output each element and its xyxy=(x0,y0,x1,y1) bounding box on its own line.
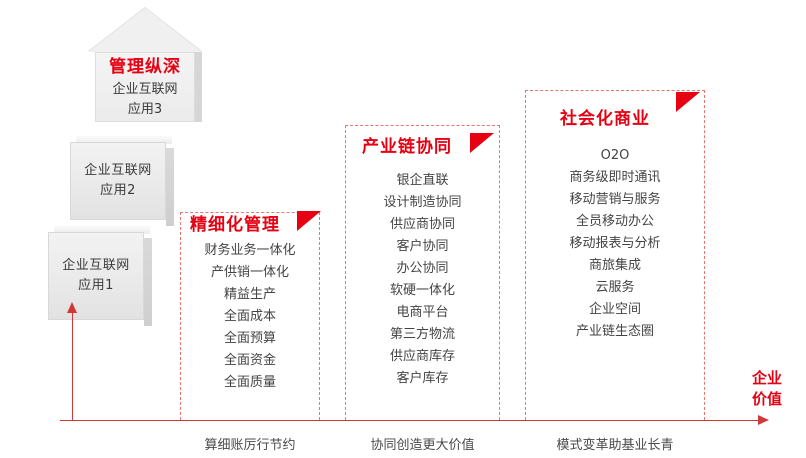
list-item: 软硬一体化 xyxy=(345,280,500,302)
list-item: 客户协同 xyxy=(345,236,500,258)
roof-triangle-icon xyxy=(88,8,202,52)
step-block-2: 企业互联网 应用2 xyxy=(70,142,166,220)
list-item: 移动营销与服务 xyxy=(525,189,705,211)
step-block-3: 管理纵深 企业互联网 应用3 xyxy=(88,8,202,122)
list-item: 电商平台 xyxy=(345,302,500,324)
list-item: 全面资金 xyxy=(180,350,320,372)
caption-group-2: 协同创造更大价值 xyxy=(345,434,500,453)
list-item: 商旅集成 xyxy=(525,255,705,277)
step-2-side xyxy=(166,148,174,226)
step-1-side xyxy=(144,238,152,326)
step-3-title: 管理纵深 xyxy=(88,52,202,77)
y-axis-label-line2: 价值 xyxy=(740,389,794,410)
x-axis-line xyxy=(60,420,760,421)
list-item: 办公协同 xyxy=(345,258,500,280)
list-item: 全员移动办公 xyxy=(525,211,705,233)
list-item: 产业链生态圈 xyxy=(525,321,705,343)
group-1-flag-icon xyxy=(297,211,321,231)
step-1-label-line2: 应用1 xyxy=(78,276,114,296)
diagram-canvas: 企业互联网 应用1 企业互联网 应用2 管理纵深 企业互联网 应用3 精细化管理… xyxy=(0,0,806,458)
group-2-item-list: 银企直联 设计制造协同 供应商协同 客户协同 办公协同 软硬一体化 电商平台 第… xyxy=(345,170,500,390)
step-1-label-line1: 企业互联网 xyxy=(62,256,130,276)
list-item: 第三方物流 xyxy=(345,324,500,346)
list-item: 企业空间 xyxy=(525,299,705,321)
list-item: 移动报表与分析 xyxy=(525,233,705,255)
group-3-item-list: O2O 商务级即时通讯 移动营销与服务 全员移动办公 移动报表与分析 商旅集成 … xyxy=(525,145,705,343)
step-3-label: 企业互联网 应用3 xyxy=(95,80,195,120)
caption-group-1: 算细账厉行节约 xyxy=(180,434,320,453)
step-block-1: 企业互联网 应用1 xyxy=(48,232,144,320)
list-item: 全面质量 xyxy=(180,372,320,394)
list-item: 全面预算 xyxy=(180,328,320,350)
step-2-label-line1: 企业互联网 xyxy=(84,161,152,181)
y-axis-arrow-icon xyxy=(67,302,77,313)
y-axis-label: 企业 价值 xyxy=(740,368,794,410)
group-title-social-commerce: 社会化商业 xyxy=(560,104,650,129)
step-2-label-line2: 应用2 xyxy=(100,181,136,201)
caption-group-3: 模式变革助基业长青 xyxy=(525,434,705,453)
list-item: 商务级即时通讯 xyxy=(525,167,705,189)
group-1-item-list: 财务业务一体化 产供销一体化 精益生产 全面成本 全面预算 全面资金 全面质量 xyxy=(180,240,320,394)
x-axis-arrow-icon xyxy=(758,415,769,425)
list-item: 供应商库存 xyxy=(345,346,500,368)
group-2-flag-icon xyxy=(470,133,494,153)
list-item: 全面成本 xyxy=(180,306,320,328)
list-item: 云服务 xyxy=(525,277,705,299)
list-item: 产供销一体化 xyxy=(180,262,320,284)
list-item: 精益生产 xyxy=(180,284,320,306)
list-item: 银企直联 xyxy=(345,170,500,192)
step-2-label: 企业互联网 应用2 xyxy=(70,142,166,220)
list-item: 设计制造协同 xyxy=(345,192,500,214)
y-axis-line xyxy=(72,312,73,420)
list-item: 财务业务一体化 xyxy=(180,240,320,262)
list-item: 供应商协同 xyxy=(345,214,500,236)
step-3-label-line2: 应用3 xyxy=(95,100,195,120)
group-3-flag-icon xyxy=(676,92,700,112)
group-title-industry-chain: 产业链协同 xyxy=(362,132,452,157)
group-title-refined-management: 精细化管理 xyxy=(190,210,280,235)
step-3-label-line1: 企业互联网 xyxy=(95,80,195,100)
list-item: O2O xyxy=(525,145,705,167)
list-item: 客户库存 xyxy=(345,368,500,390)
step-1-label: 企业互联网 应用1 xyxy=(48,232,144,320)
y-axis-label-line1: 企业 xyxy=(740,368,794,389)
